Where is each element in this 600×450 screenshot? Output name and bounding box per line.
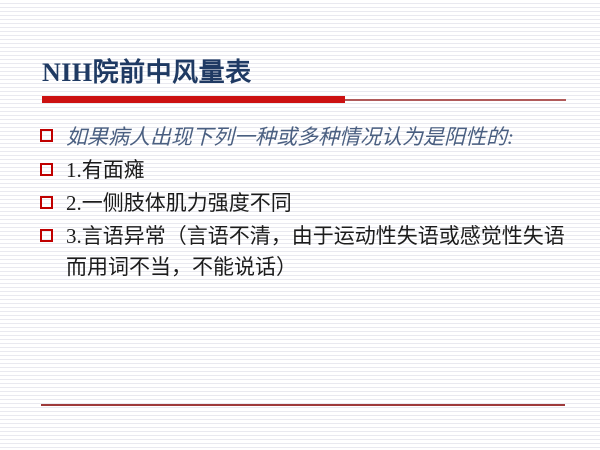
title-block: NIH院前中风量表 (42, 56, 562, 90)
footer-divider (41, 404, 565, 406)
title-underline-bar (42, 96, 345, 103)
square-bullet-icon (40, 229, 53, 242)
list-item: 如果病人出现下列一种或多种情况认为是阳性的: (40, 122, 570, 153)
bullet-list: 如果病人出现下列一种或多种情况认为是阳性的: 1.有面瘫 2.一侧肢体肌力强度不… (40, 122, 570, 285)
slide-title: NIH院前中风量表 (42, 56, 562, 90)
list-item-text: 如果病人出现下列一种或多种情况认为是阳性的: (66, 122, 570, 153)
presentation-slide: NIH院前中风量表 如果病人出现下列一种或多种情况认为是阳性的: 1.有面瘫 2… (0, 0, 600, 450)
list-item: 2.一侧肢体肌力强度不同 (40, 188, 570, 219)
list-item: 1.有面瘫 (40, 155, 570, 186)
list-item: 3.言语异常（言语不清，由于运动性失语或感觉性失语而用词不当，不能说话） (40, 221, 570, 283)
list-item-text: 2.一侧肢体肌力强度不同 (66, 188, 570, 219)
square-bullet-icon (40, 163, 53, 176)
square-bullet-icon (40, 129, 53, 142)
square-bullet-icon (40, 196, 53, 209)
list-item-text: 1.有面瘫 (66, 155, 570, 186)
list-item-text: 3.言语异常（言语不清，由于运动性失语或感觉性失语而用词不当，不能说话） (66, 221, 570, 283)
title-underline (42, 96, 566, 104)
title-underline-rule (345, 99, 566, 101)
